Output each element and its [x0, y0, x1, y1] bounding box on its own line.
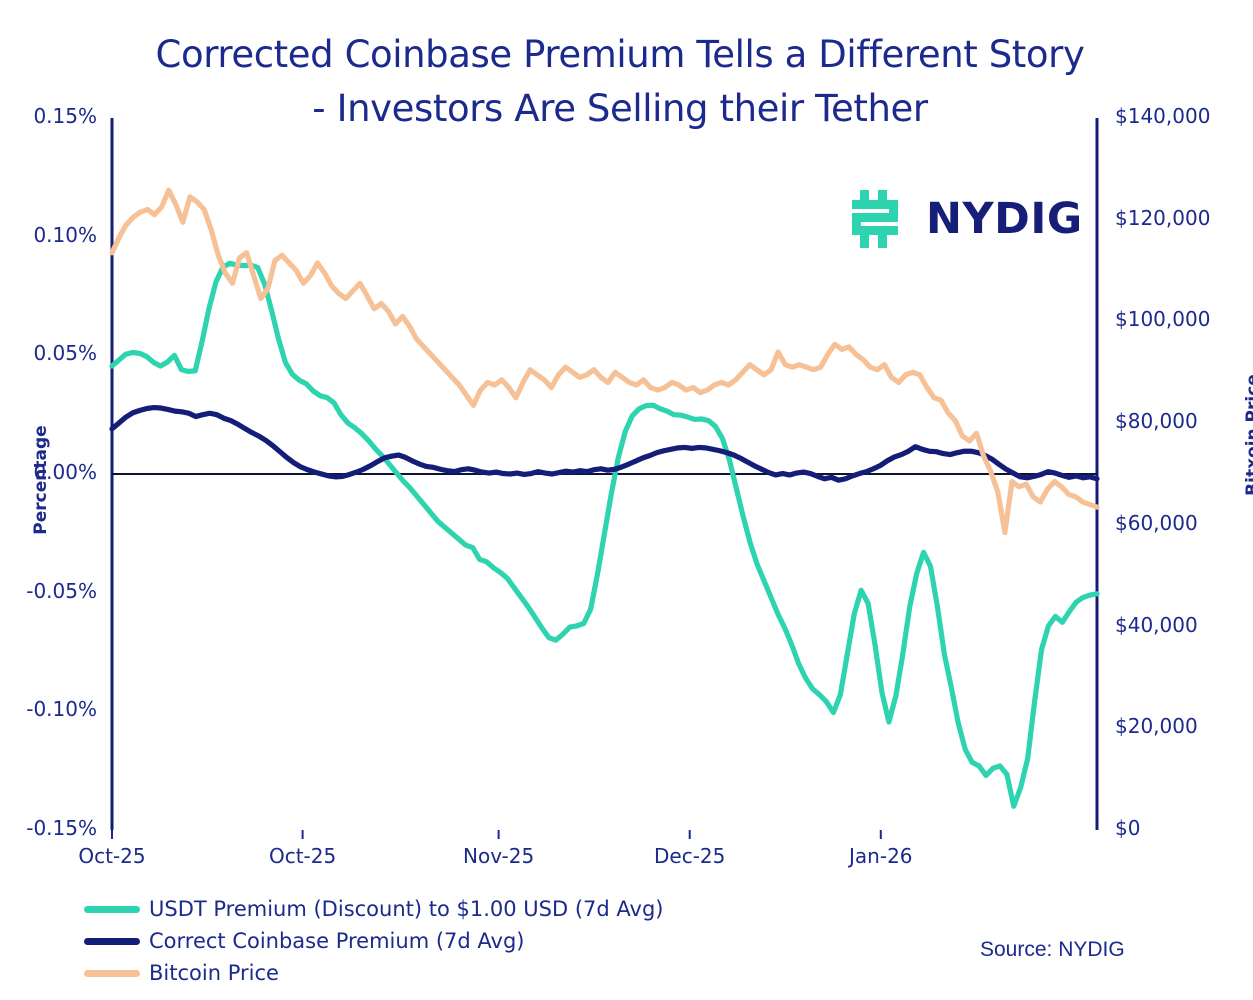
legend-swatch-icon-1: [84, 938, 140, 945]
legend-item-2[interactable]: Bitcoin Price: [84, 957, 664, 989]
x-tick-label-1: Oct-25: [233, 844, 373, 868]
y-tick-left-5: -0.10%: [0, 697, 97, 721]
y-tick-right-4: $60,000: [1115, 511, 1253, 535]
legend-label-1: Correct Coinbase Premium (7d Avg): [149, 929, 524, 953]
x-tick-label-4: Jan-26: [811, 844, 951, 868]
legend-label-0: USDT Premium (Discount) to $1.00 USD (7d…: [149, 897, 664, 921]
series-line-0: [112, 263, 1097, 806]
y-tick-right-1: $120,000: [1115, 206, 1253, 230]
y-tick-left-4: -0.05%: [0, 579, 97, 603]
legend-item-0[interactable]: USDT Premium (Discount) to $1.00 USD (7d…: [84, 893, 664, 925]
legend-item-1[interactable]: Correct Coinbase Premium (7d Avg): [84, 925, 664, 957]
x-tick-label-0: Oct-25: [42, 844, 182, 868]
chart-legend: USDT Premium (Discount) to $1.00 USD (7d…: [84, 893, 664, 989]
series-line-1: [112, 408, 1097, 481]
y-tick-left-1: 0.10%: [0, 223, 97, 247]
y-tick-left-6: -0.15%: [0, 816, 97, 840]
y-tick-right-0: $140,000: [1115, 104, 1253, 128]
y-tick-right-5: $40,000: [1115, 613, 1253, 637]
series-line-2: [112, 190, 1097, 532]
y-tick-left-0: 0.15%: [0, 104, 97, 128]
legend-swatch-icon-0: [84, 906, 140, 913]
source-note: Source: NYDIG: [980, 938, 1125, 962]
y-tick-left-2: 0.05%: [0, 341, 97, 365]
legend-swatch-icon-2: [84, 970, 140, 977]
chart-figure: Corrected Coinbase Premium Tells a Diffe…: [0, 0, 1253, 1000]
y-tick-right-7: $0: [1115, 816, 1253, 840]
x-tick-label-3: Dec-25: [620, 844, 760, 868]
x-tick-label-2: Nov-25: [429, 844, 569, 868]
y-tick-right-6: $20,000: [1115, 714, 1253, 738]
y-tick-right-2: $100,000: [1115, 307, 1253, 331]
y-tick-right-3: $80,000: [1115, 409, 1253, 433]
y-tick-left-3: 0.00%: [0, 460, 97, 484]
legend-label-2: Bitcoin Price: [149, 961, 279, 985]
